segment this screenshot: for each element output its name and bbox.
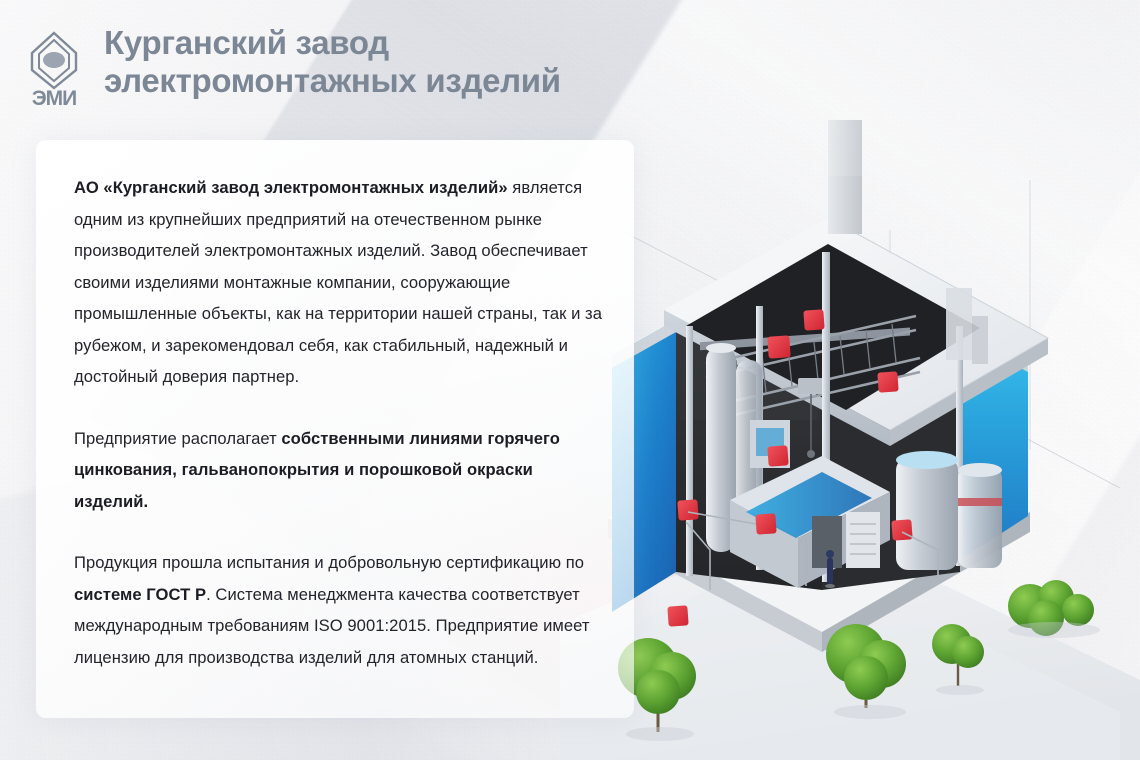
paragraph-1: АО «Курганский завод электромонтажных из… bbox=[74, 172, 604, 393]
factory-illustration bbox=[560, 120, 1140, 760]
emphasis-text: системе ГОСТ Р bbox=[74, 585, 206, 604]
title-line-2: электромонтажных изделий bbox=[104, 62, 561, 100]
emblem-center bbox=[43, 52, 65, 68]
paragraph-2: Предприятие располагает собственными лин… bbox=[74, 423, 604, 518]
page-title: Курганский завод электромонтажных издели… bbox=[104, 22, 561, 100]
emphasis-text: АО «Курганский завод электромонтажных из… bbox=[74, 178, 512, 197]
body-text: является одним из крупнейших предприятий… bbox=[74, 178, 602, 386]
paragraph-3: Продукция прошла испытания и добровольну… bbox=[74, 547, 604, 673]
svg-text:ЭМИ: ЭМИ bbox=[32, 87, 77, 108]
title-line-1: Курганский завод bbox=[104, 24, 561, 62]
body-text: Предприятие располагает bbox=[74, 429, 281, 448]
content-body: АО «Курганский завод электромонтажных из… bbox=[74, 172, 604, 673]
slide-root: АО «Курганский завод электромонтажных из… bbox=[0, 0, 1140, 760]
logo-wordmark: ЭМИ bbox=[32, 87, 77, 108]
body-text: Продукция прошла испытания и добровольну… bbox=[74, 553, 584, 572]
company-logo: ЭМИ bbox=[26, 30, 82, 108]
control-cabinets bbox=[812, 512, 880, 568]
crane-hoist bbox=[798, 378, 824, 394]
page-header: ЭМИ Курганский завод электромонтажных из… bbox=[26, 22, 561, 108]
process-tanks-right bbox=[896, 451, 1002, 570]
